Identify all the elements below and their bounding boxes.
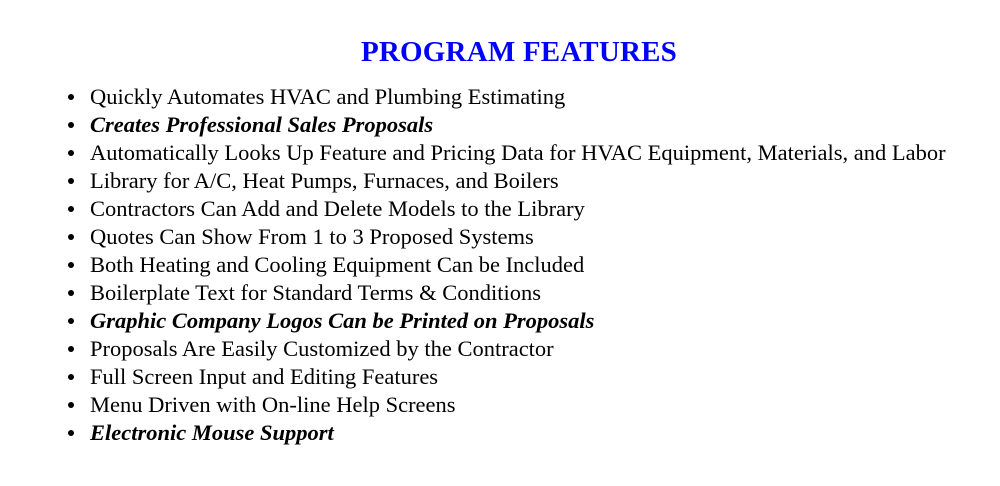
feature-list-item: Electronic Mouse Support [0,419,1000,447]
feature-text: Library for A/C, Heat Pumps, Furnaces, a… [90,167,976,195]
feature-text: Automatically Looks Up Feature and Prici… [90,139,976,167]
bullet-disc-icon [68,318,74,324]
bullet-disc-icon [68,430,74,436]
feature-text: Creates Professional Sales Proposals [90,111,976,139]
document-page: PROGRAM FEATURES Quickly Automates HVAC … [0,0,1000,486]
bullet-disc-icon [68,374,74,380]
page-title: PROGRAM FEATURES [0,35,1000,69]
bullet-disc-icon [68,178,74,184]
feature-text: Electronic Mouse Support [90,419,976,447]
bullet-disc-icon [68,262,74,268]
feature-list-item: Contractors Can Add and Delete Models to… [0,195,1000,223]
feature-list-item: Creates Professional Sales Proposals [0,111,1000,139]
feature-list-item: Proposals Are Easily Customized by the C… [0,335,1000,363]
feature-list-item: Graphic Company Logos Can be Printed on … [0,307,1000,335]
bullet-disc-icon [68,150,74,156]
feature-text: Boilerplate Text for Standard Terms & Co… [90,279,976,307]
feature-list-item: Menu Driven with On-line Help Screens [0,391,1000,419]
bullet-disc-icon [68,234,74,240]
bullet-disc-icon [68,290,74,296]
program-features-list: Quickly Automates HVAC and Plumbing Esti… [0,83,1000,447]
feature-text: Contractors Can Add and Delete Models to… [90,195,976,223]
feature-list-item: Library for A/C, Heat Pumps, Furnaces, a… [0,167,1000,195]
feature-list-item: Full Screen Input and Editing Features [0,363,1000,391]
feature-list-item: Both Heating and Cooling Equipment Can b… [0,251,1000,279]
bullet-disc-icon [68,346,74,352]
feature-text: Graphic Company Logos Can be Printed on … [90,307,976,335]
bullet-disc-icon [68,122,74,128]
feature-list-item: Quotes Can Show From 1 to 3 Proposed Sys… [0,223,1000,251]
feature-text: Full Screen Input and Editing Features [90,363,976,391]
feature-list-item: Automatically Looks Up Feature and Prici… [0,139,1000,167]
feature-text: Proposals Are Easily Customized by the C… [90,335,976,363]
feature-text: Both Heating and Cooling Equipment Can b… [90,251,976,279]
feature-text: Quotes Can Show From 1 to 3 Proposed Sys… [90,223,976,251]
bullet-disc-icon [68,402,74,408]
feature-text: Menu Driven with On-line Help Screens [90,391,976,419]
feature-text: Quickly Automates HVAC and Plumbing Esti… [90,83,976,111]
feature-list-item: Quickly Automates HVAC and Plumbing Esti… [0,83,1000,111]
bullet-disc-icon [68,206,74,212]
bullet-disc-icon [68,94,74,100]
feature-list-item: Boilerplate Text for Standard Terms & Co… [0,279,1000,307]
